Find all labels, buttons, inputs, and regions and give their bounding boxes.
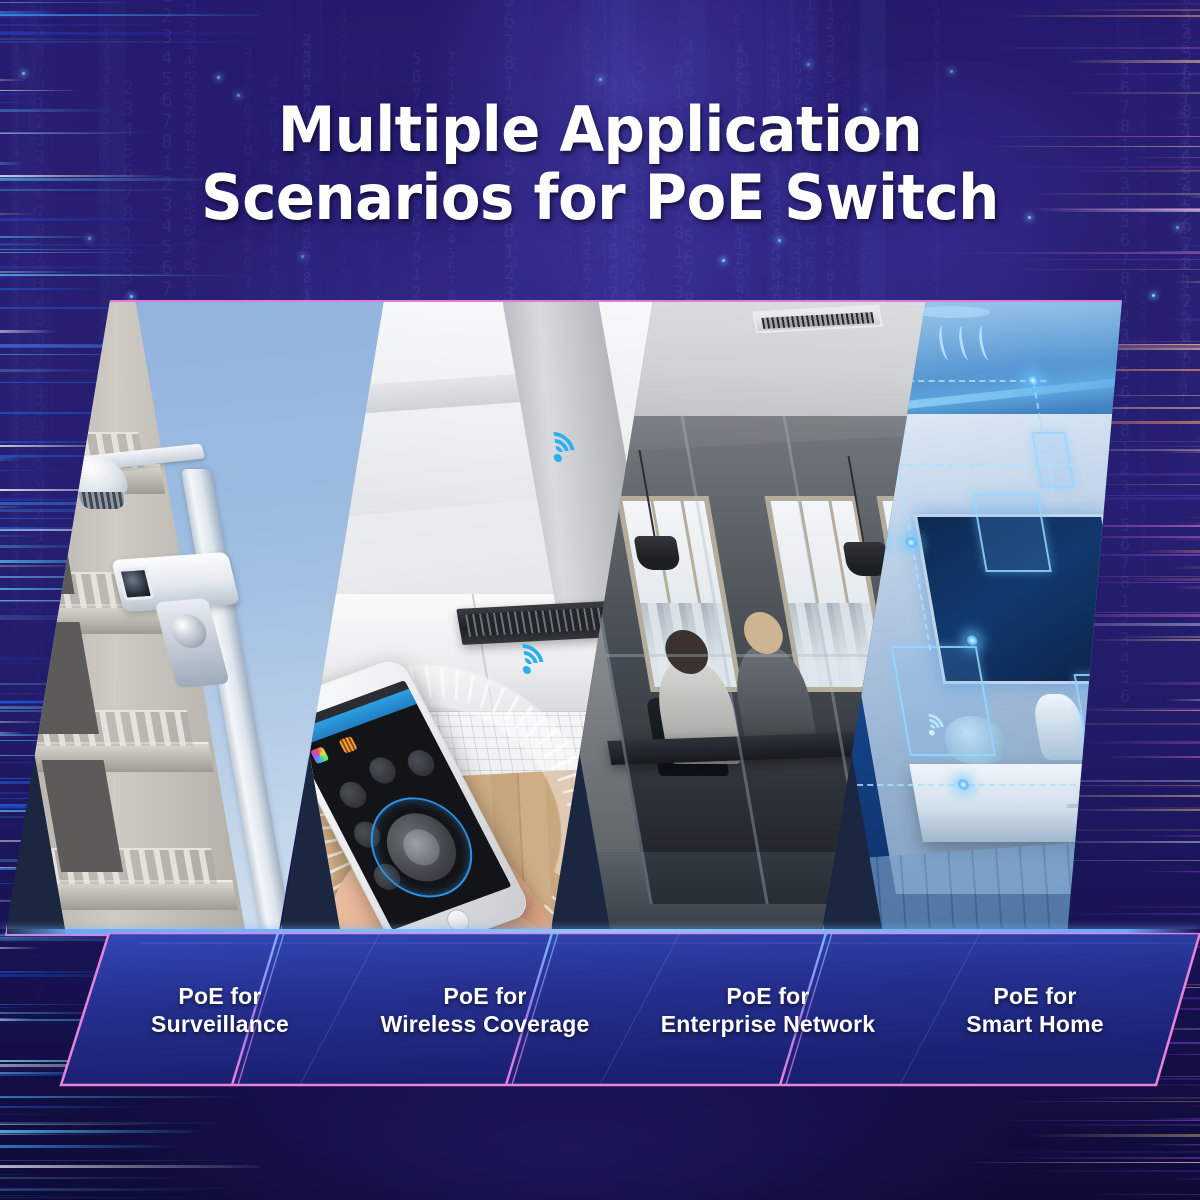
speed-streak [0,1145,180,1148]
speed-streak [0,11,60,14]
speed-streak [1076,1194,1200,1195]
sparkle-dot [130,295,133,298]
sparkle-dot [722,259,725,262]
speed-streak [0,288,106,290]
speed-streak [987,47,1200,49]
speed-streak [0,1195,84,1196]
speed-streak [0,1114,83,1115]
title-line-1: Multiple Application [42,96,1158,164]
caption-band: PoE for Surveillance PoE for Wireless Co… [0,933,1200,1089]
speed-streak [1089,3,1200,5]
caption-line-2: Enterprise Network [661,1010,876,1038]
speed-streak [1065,60,1200,63]
sparkle-dot [778,239,781,242]
speed-streak [1143,1144,1200,1145]
sparkle-dot [1152,294,1155,297]
speed-streak [0,1106,147,1108]
speed-streak [1002,15,1200,17]
speed-streak [1024,1170,1200,1172]
caption-line-1: PoE for [726,982,809,1010]
speed-streak [0,1130,206,1133]
caption-line-2: Wireless Coverage [380,1010,589,1038]
sparkle-dot [950,70,953,73]
hud-node [1086,790,1101,803]
speed-streak [0,1188,260,1189]
speed-streak [0,41,260,43]
speed-streak [1057,9,1200,11]
speed-streak [1139,1144,1200,1146]
color-palette-icon[interactable] [310,746,329,764]
speed-streak [0,276,32,278]
speed-streak [0,90,80,91]
speed-streak [0,1177,185,1179]
speed-streak [0,236,101,238]
speed-streak [0,274,191,276]
camera-lens-icon [117,567,154,601]
balcony [32,880,237,910]
speed-streak [1196,285,1200,288]
caption-surveillance: PoE for Surveillance [90,933,350,1087]
speed-streak [0,1124,156,1125]
speed-streak [1003,269,1200,270]
media-cabinet [909,764,1200,842]
heater-icon[interactable] [338,736,357,754]
speed-streak [0,24,172,26]
app-control-button[interactable] [364,754,400,787]
sparkle-dot [217,76,220,79]
caption-line-1: PoE for [443,982,526,1010]
speed-streak [0,16,71,18]
speed-streak [1014,1124,1200,1126]
speed-streak [0,275,247,276]
speed-streak [1128,251,1200,252]
speed-streak [0,249,135,250]
caption-line-1: PoE for [178,982,261,1010]
television [913,514,1133,684]
speed-streak [0,1097,79,1098]
caption-wireless-coverage: PoE for Wireless Coverage [340,933,630,1087]
sparkle-dot [807,63,810,66]
speed-streak [993,1120,1200,1121]
caption-line-2: Smart Home [966,1010,1103,1038]
caption-smart-home: PoE for Smart Home [900,933,1170,1087]
speed-streak [0,1197,221,1198]
balcony [8,742,213,772]
scenario-panel-strip [0,300,1200,940]
speed-streak [0,38,72,39]
speed-streak [1056,1097,1200,1099]
sparkle-dot [1176,226,1179,229]
speed-streak [965,1151,1200,1153]
caption-line-2: Surveillance [151,1010,289,1038]
speed-streak [0,1174,58,1175]
speed-streak [0,102,34,103]
speed-streak [1053,73,1200,75]
speed-streak [0,271,81,273]
speed-streak [0,252,154,253]
speed-streak [1169,1178,1200,1180]
caption-enterprise-network: PoE for Enterprise Network [620,933,916,1087]
speed-streak [0,1189,202,1191]
speed-streak [0,2,138,3]
speed-streak [1160,117,1200,118]
speed-streak [958,252,1200,254]
speed-streak [962,1162,1200,1163]
speed-streak [0,14,260,16]
app-control-button[interactable] [403,747,439,780]
sparkle-dot [301,255,304,258]
speed-streak [0,1134,138,1135]
caption-line-1: PoE for [993,982,1076,1010]
speed-streak [0,15,260,16]
speed-streak [0,1122,229,1124]
title-line-2: Scenarios for PoE Switch [42,164,1158,232]
speed-streak [1188,1105,1200,1107]
speed-streak [0,162,25,165]
speed-streak [1175,281,1200,283]
speed-streak [1160,169,1200,171]
speed-streak [0,1133,63,1135]
poster-canvas: 5678123456781234567812345678123456123456… [0,0,1200,1200]
speed-streak [0,266,186,269]
sparkle-dot [599,78,602,81]
speed-streak [0,31,93,34]
sparkle-dot [88,237,91,240]
speed-streak [1057,92,1200,94]
speed-streak [0,93,39,95]
speed-streak [1185,195,1200,198]
speed-streak [0,244,213,246]
page-title: Multiple Application Scenarios for PoE S… [42,96,1158,232]
speed-streak [1007,1101,1200,1102]
speed-streak [980,259,1200,260]
speed-streak [1189,17,1200,19]
speed-streak [0,1096,244,1098]
speed-streak [0,243,51,245]
speed-streak [1010,1157,1200,1159]
speed-streak [0,1160,256,1161]
speed-streak [0,39,155,40]
speed-streak [1133,245,1200,247]
speed-streak [0,79,25,81]
app-control-button[interactable] [335,778,371,811]
sparkle-dot [22,72,25,75]
speed-streak [0,1165,260,1168]
speed-streak [0,1167,260,1168]
speed-streak [0,213,34,215]
speed-streak [0,32,260,35]
window [5,482,74,594]
speed-streak [1144,1118,1200,1121]
speed-streak [1028,1134,1200,1137]
